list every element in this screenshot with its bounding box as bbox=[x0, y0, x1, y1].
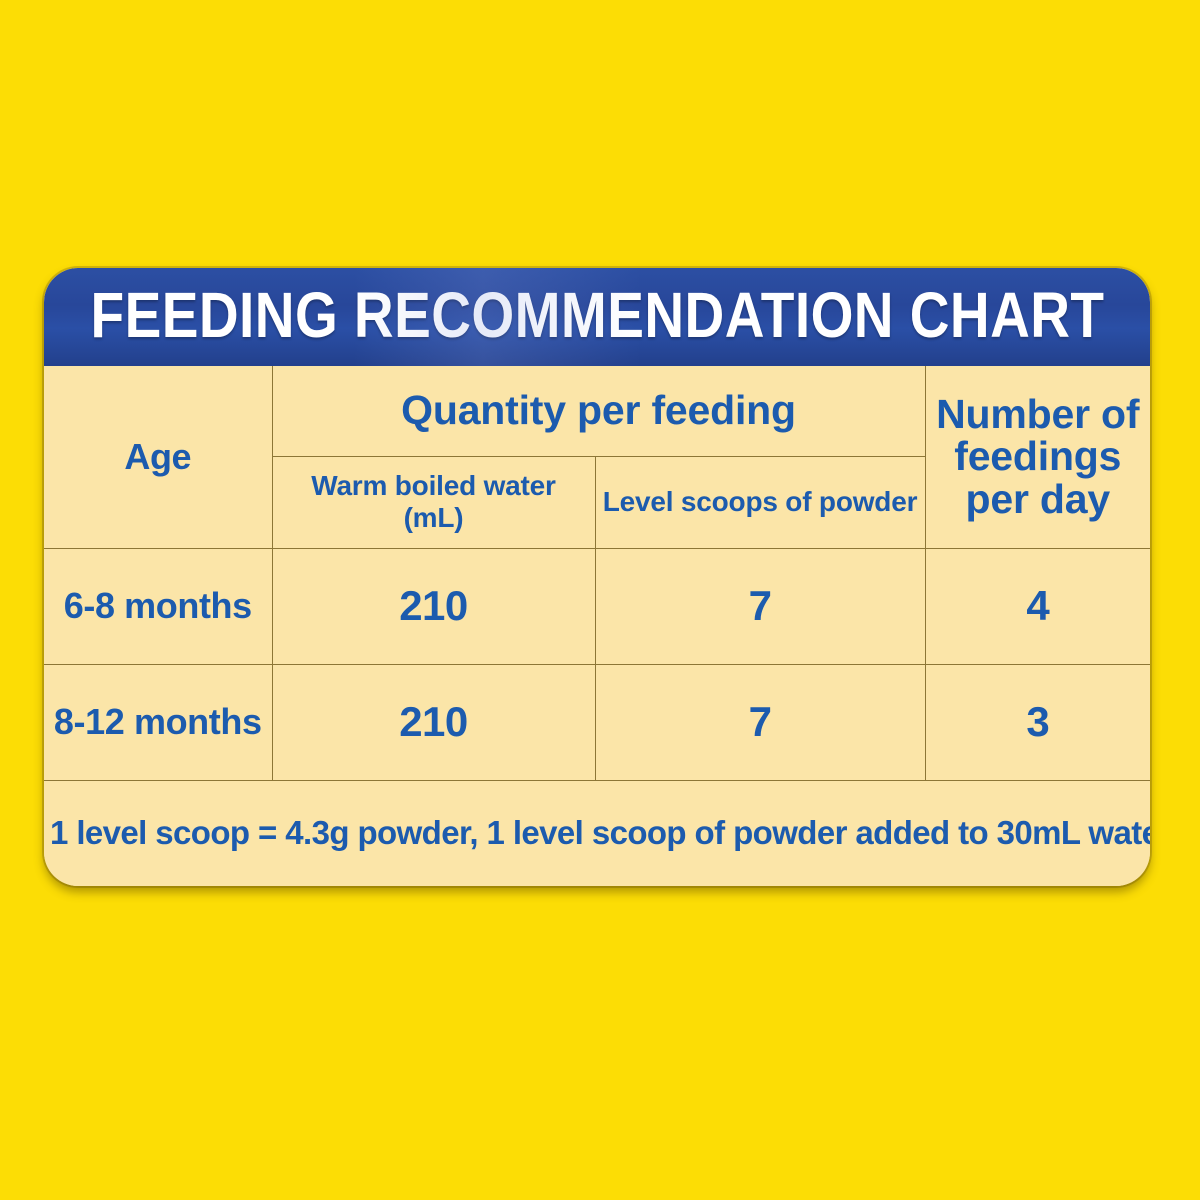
cell-water: 210 bbox=[272, 664, 595, 780]
table-row: 8-12 months 210 7 3 bbox=[44, 664, 1150, 780]
cell-scoops: 7 bbox=[595, 548, 925, 664]
footnote-text: 1 level scoop = 4.3g powder, 1 level sco… bbox=[44, 780, 1150, 886]
header-feedings-line-2: feedings bbox=[932, 435, 1145, 478]
header-feedings-line-3: per day bbox=[932, 478, 1145, 521]
cell-age: 8-12 months bbox=[44, 664, 272, 780]
header-quantity-per-feeding: Quantity per feeding bbox=[272, 366, 925, 456]
cell-feedings: 4 bbox=[925, 548, 1150, 664]
table-row: 6-8 months 210 7 4 bbox=[44, 548, 1150, 664]
header-level-scoops-of-powder: Level scoops of powder bbox=[595, 456, 925, 548]
cell-scoops: 7 bbox=[595, 664, 925, 780]
cell-feedings: 3 bbox=[925, 664, 1150, 780]
cell-water: 210 bbox=[272, 548, 595, 664]
feeding-recommendation-table: Age Quantity per feeding Number of feedi… bbox=[44, 366, 1150, 886]
table-footnote-row: 1 level scoop = 4.3g powder, 1 level sco… bbox=[44, 780, 1150, 886]
title-banner: FEEDING RECOMMENDATION CHART bbox=[44, 268, 1150, 366]
header-number-of-feedings-per-day: Number of feedings per day bbox=[925, 366, 1150, 548]
page-title: FEEDING RECOMMENDATION CHART bbox=[90, 283, 1104, 351]
cell-age: 6-8 months bbox=[44, 548, 272, 664]
header-warm-boiled-water: Warm boiled water (mL) bbox=[272, 456, 595, 548]
header-feedings-line-1: Number of bbox=[932, 393, 1145, 436]
header-age: Age bbox=[44, 366, 272, 548]
feeding-recommendation-card: FEEDING RECOMMENDATION CHART Age Quantit… bbox=[44, 268, 1150, 886]
table-header-row-primary: Age Quantity per feeding Number of feedi… bbox=[44, 366, 1150, 456]
